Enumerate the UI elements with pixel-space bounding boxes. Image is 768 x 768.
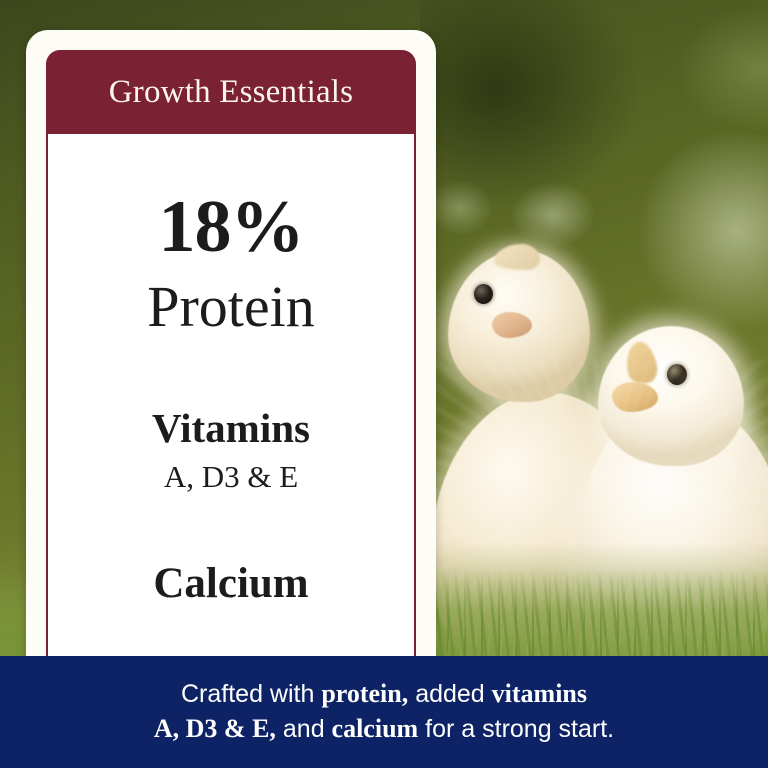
tagline-l2-seg1: and	[276, 715, 332, 743]
protein-label: Protein	[48, 278, 414, 336]
tagline-l2-bold-calcium: calcium	[332, 714, 419, 743]
growth-essentials-card: Growth Essentials 18% Protein Vitamins A…	[26, 30, 436, 660]
card-header-bar: Growth Essentials	[46, 50, 416, 134]
tagline-l1-seg2: added	[408, 680, 491, 708]
vitamins-label: Vitamins	[48, 408, 414, 449]
card-header-title: Growth Essentials	[109, 74, 353, 111]
protein-value: 18%	[48, 190, 414, 264]
tagline-l2-bold-vitlist: A, D3 & E,	[154, 714, 276, 743]
tagline-line-2: A, D3 & E, and calcium for a strong star…	[154, 712, 614, 747]
promo-graphic: Growth Essentials 18% Protein Vitamins A…	[0, 0, 768, 768]
tagline-l1-seg1: Crafted with	[181, 680, 321, 708]
nutrition-facts-list: 18% Protein Vitamins A, D3 & E Calcium	[48, 134, 414, 605]
calcium-label: Calcium	[48, 562, 414, 605]
tagline-l2-seg2: for a strong start.	[418, 715, 614, 743]
grass-blades	[430, 570, 768, 662]
chick-left-eye	[474, 284, 493, 304]
vitamins-list: A, D3 & E	[48, 461, 414, 492]
tagline-l1-bold-protein: protein,	[321, 679, 408, 708]
tagline-banner: Crafted with protein, added vitamins A, …	[0, 656, 768, 768]
tagline-l1-bold-vitamins: vitamins	[492, 679, 587, 708]
chick-right-eye	[667, 364, 687, 385]
photo-vignette	[420, 0, 768, 300]
tagline-line-1: Crafted with protein, added vitamins	[181, 677, 587, 712]
card-body: 18% Protein Vitamins A, D3 & E Calcium	[46, 134, 416, 660]
